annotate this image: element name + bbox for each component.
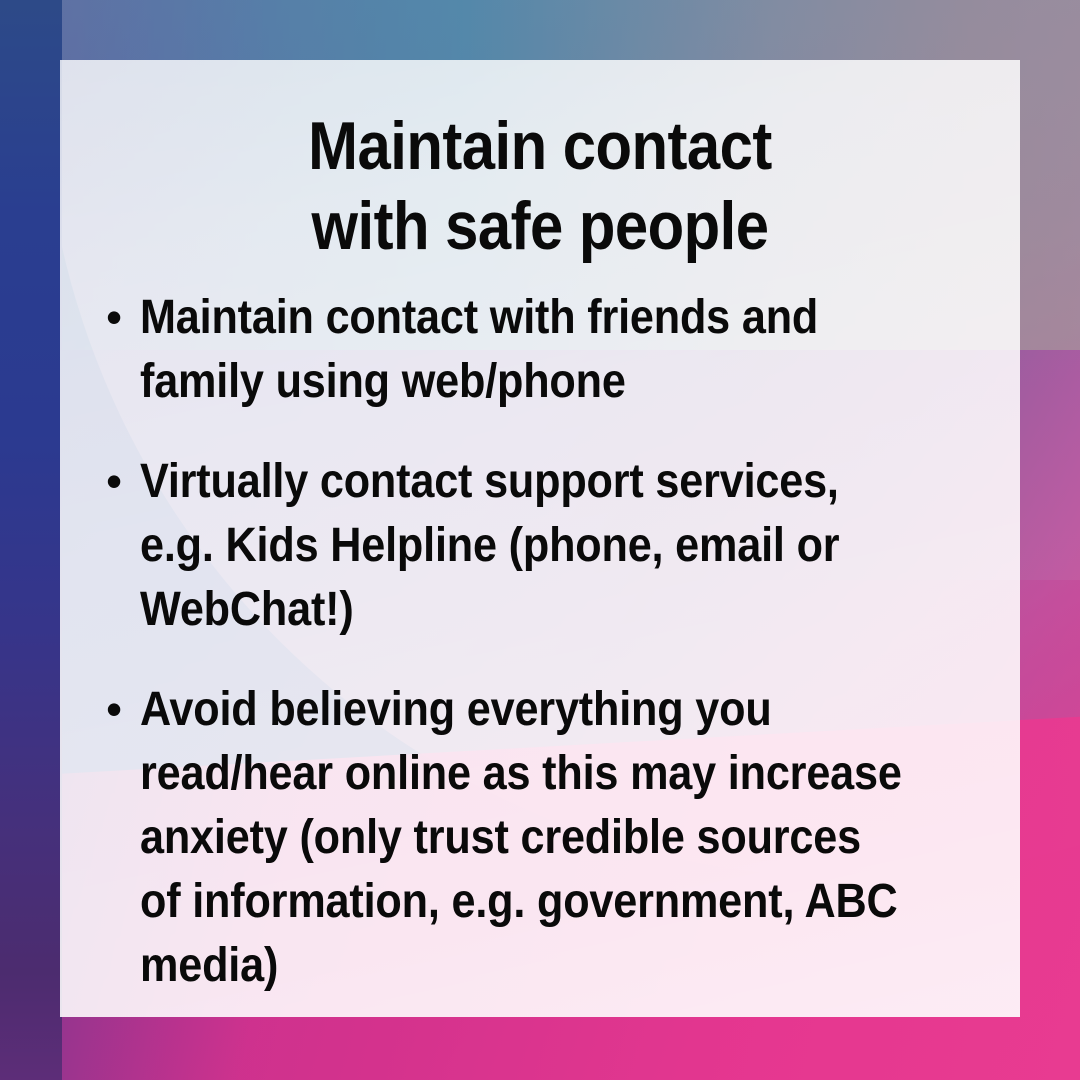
list-item-text: Virtually contact support services, e.g.…	[140, 450, 907, 642]
list-item: • Avoid believing everything you read/he…	[106, 678, 992, 998]
list-item-text: Maintain contact with friends and family…	[140, 286, 907, 414]
background-left-indigo-band	[0, 0, 62, 1080]
list-item-text: Avoid believing everything you read/hear…	[140, 678, 907, 998]
bullet-dot-icon: •	[106, 450, 140, 512]
list-item: • Virtually contact support services, e.…	[106, 450, 992, 642]
content-card: Maintain contact with safe people • Main…	[60, 60, 1020, 1017]
list-item: • Maintain contact with friends and fami…	[106, 286, 992, 414]
poster-title: Maintain contact with safe people	[118, 106, 963, 266]
bullet-dot-icon: •	[106, 678, 140, 740]
bullet-list: • Maintain contact with friends and fami…	[106, 286, 992, 998]
bullet-dot-icon: •	[106, 286, 140, 348]
poster-canvas: Maintain contact with safe people • Main…	[0, 0, 1080, 1080]
